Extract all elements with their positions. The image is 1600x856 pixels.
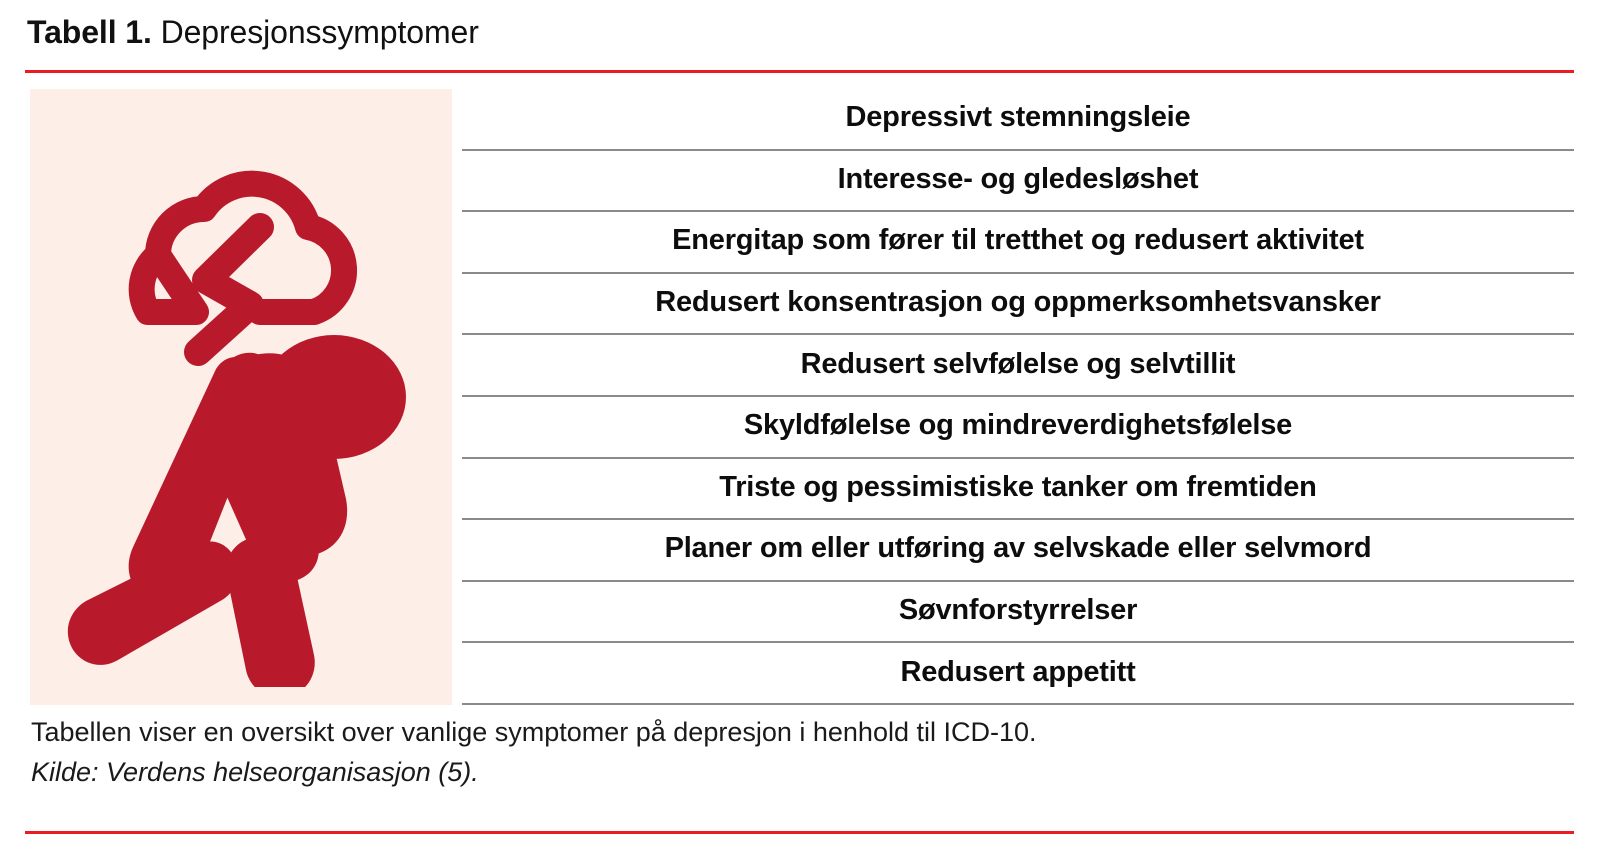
depressed-person-with-storm-cloud-icon [46,107,436,687]
table-source: Kilde: Verdens helseorganisasjon (5). [31,752,1571,792]
table-row: Søvnforstyrrelser [462,582,1574,644]
table-row: Redusert selvfølelse og selvtillit [462,335,1574,397]
symptom-label: Planer om eller utføring av selvskade el… [665,534,1372,563]
top-accent-rule [25,70,1574,73]
symptom-label: Depressivt stemningsleie [846,103,1191,132]
table-row: Redusert konsentrasjon og oppmerksomhets… [462,274,1574,336]
table-row: Planer om eller utføring av selvskade el… [462,520,1574,582]
symptom-label: Redusert konsentrasjon og oppmerksomhets… [655,288,1380,317]
table-row: Interesse- og gledesløshet [462,151,1574,213]
symptom-label: Energitap som fører til tretthet og redu… [672,226,1364,255]
table-caption: Tabell 1. Depresjonssymptomer [27,10,479,54]
table-row: Triste og pessimistiske tanker om fremti… [462,459,1574,521]
symptom-label: Skyldfølelse og mindreverdighetsfølelse [744,411,1292,440]
table-description: Tabellen viser en oversikt over vanlige … [31,712,1571,752]
table-row: Depressivt stemningsleie [462,89,1574,151]
symptom-label: Redusert appetitt [900,658,1135,687]
table-row: Skyldfølelse og mindreverdighetsfølelse [462,397,1574,459]
symptom-label: Redusert selvfølelse og selvtillit [801,350,1236,379]
table-footer: Tabellen viser en oversikt over vanlige … [31,712,1571,792]
table-body: Depressivt stemningsleie Interesse- og g… [0,89,1600,705]
table-row: Redusert appetitt [462,643,1574,705]
table-row: Energitap som fører til tretthet og redu… [462,212,1574,274]
page-title: Depresjonssymptomer [152,14,479,50]
symptom-label: Interesse- og gledesløshet [838,165,1199,194]
illustration-panel [30,89,452,705]
table-figure-page: Tabell 1. Depresjonssymptomer [0,0,1600,856]
symptom-label: Søvnforstyrrelser [899,596,1137,625]
table-number: Tabell 1. [27,14,152,50]
symptom-list: Depressivt stemningsleie Interesse- og g… [462,89,1574,705]
symptom-label: Triste og pessimistiske tanker om fremti… [719,473,1316,502]
bottom-accent-rule [25,831,1574,834]
